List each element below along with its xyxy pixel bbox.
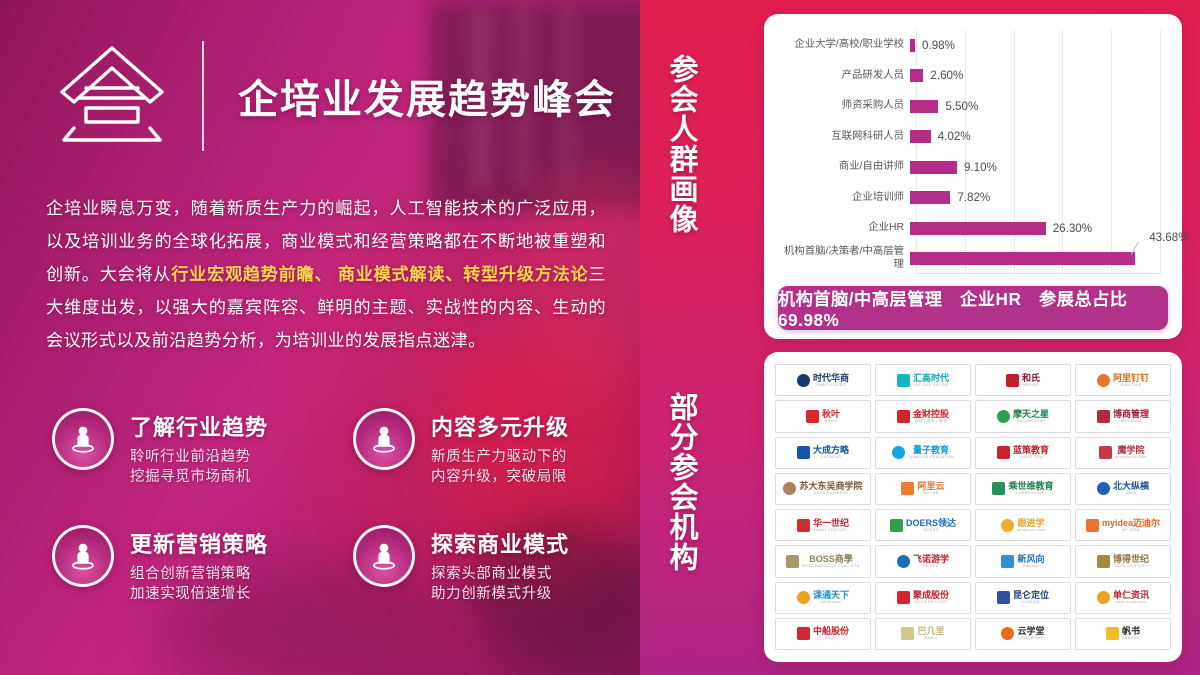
bar-value-label: 0.98% xyxy=(922,39,955,52)
partner-logo-cell[interactable]: BOSS商學BOSS BUSINESS EDU-TECH xyxy=(775,545,871,577)
bar-category-label: 互联网科研人员 xyxy=(778,131,910,143)
feature-title: 了解行业趋势 xyxy=(130,410,268,442)
partner-logo: 量子教育QUANTUM EDUCATION xyxy=(892,445,955,460)
partner-logo: 博得世纪BODE CENTURY xyxy=(1097,554,1149,569)
partner-logo-text: 单仁资讯www.srzzjt.com xyxy=(1113,590,1149,605)
partner-logo-text: 飞诺游学FEINUO xyxy=(913,554,949,569)
partner-logo-subtitle: DINGTALK xyxy=(1121,383,1142,388)
partner-logo-mark-icon xyxy=(897,374,910,387)
partner-logo-text: DOERS领达DOERS xyxy=(906,518,956,533)
partner-logo-subtitle: LANCE EDU xyxy=(1019,455,1043,460)
person-podium-glyph xyxy=(370,541,398,571)
bar xyxy=(910,222,1046,235)
partner-logo-cell[interactable]: 课通天下keton.com xyxy=(775,582,871,614)
partner-logo-mark-icon xyxy=(897,410,910,423)
feature-title: 内容多元升级 xyxy=(431,410,569,442)
left-panel: 企培业发展趋势峰会 企培业瞬息万变，随着新质生产力的崛起，人工智能技术的广泛应用… xyxy=(0,0,640,675)
partner-logo: 汇高时代HUI GAO SHI DAI xyxy=(897,373,949,388)
partner-logo-text: 阿里钉钉DINGTALK xyxy=(1113,373,1149,388)
partner-logo-name: 巴几里 xyxy=(917,626,944,636)
partner-logo-cell[interactable]: 新风向Nowano xyxy=(975,545,1071,577)
partner-logo-mark-icon xyxy=(806,410,819,423)
section-label-people-text: 参会人群画像 xyxy=(662,54,699,234)
partner-logo: 飞诺游学FEINUO xyxy=(897,554,949,569)
partner-logo-text: 跟进学genjinxue.com xyxy=(1017,518,1045,533)
partner-logo: 蓝策教育LANCE EDU xyxy=(997,445,1049,460)
partner-logo-cell[interactable]: 秋叶QIUYE xyxy=(775,400,871,432)
bar-value-label: 43.68% xyxy=(1149,231,1188,244)
partner-logo-subtitle: DACHENG xyxy=(821,455,842,460)
partner-logos-card: 时代华商TIMES KINGBIZ汇高时代HUI GAO SHI DAI和氏HE… xyxy=(764,352,1182,662)
bar-category-label: 师资采购人员 xyxy=(778,100,910,112)
partner-logo-cell[interactable]: 巴几里BAJILI xyxy=(875,618,971,650)
partner-logo-name: 帆书 xyxy=(1122,626,1140,636)
partner-logo: BOSS商學BOSS BUSINESS EDU-TECH xyxy=(786,554,860,569)
partner-logo-name: 新风向 xyxy=(1017,554,1044,564)
right-panel: 参会人群画像 部分参会机构 企业大学/高校/职业学校 0.98% xyxy=(640,0,1200,675)
partner-logo-cell[interactable]: 阿里钉钉DINGTALK xyxy=(1075,364,1171,396)
partner-logo-text: 华一世纪HUAYI CENTURY xyxy=(813,518,849,533)
partner-logo-mark-icon xyxy=(1001,627,1014,640)
bar-value-label: 9.10% xyxy=(964,161,997,174)
partner-logo-subtitle: CHENGSHIWEI xyxy=(1016,491,1046,496)
partner-logo-mark-icon xyxy=(797,374,810,387)
partner-logo-name: 阿里云 xyxy=(917,481,944,491)
partner-logo-name: 苏大东吴商学院 xyxy=(799,481,862,491)
partner-logo-subtitle: Nowano xyxy=(1023,564,1039,569)
bar-value-label: 5.50% xyxy=(945,100,978,113)
chart-bar-row: 企业大学/高校/职业学校 0.98% xyxy=(778,30,1168,61)
partner-logo-mark-icon xyxy=(1106,627,1119,640)
partner-logo-text: 乘世维教育CHENGSHIWEI xyxy=(1008,481,1053,496)
partner-logo-subtitle: aipku xyxy=(1126,491,1137,496)
partner-logo-name: 摩天之星 xyxy=(1013,409,1049,419)
partner-logo-name: 量子教育 xyxy=(913,445,949,455)
partner-logo-mark-icon xyxy=(783,482,796,495)
partner-logo: 金财控股金财 | 财税 | 服务 xyxy=(897,409,949,424)
partner-logo-text: 阿里云ALIYUN xyxy=(917,481,944,496)
partner-logo-subtitle: keton.com xyxy=(821,600,841,605)
partner-logo-cell[interactable]: 北大纵横aipku xyxy=(1075,473,1171,505)
partner-logo-name: 跟进学 xyxy=(1017,518,1044,528)
partner-logo-cell[interactable]: 昆仑定位KUNLUN xyxy=(975,582,1071,614)
person-podium-icon xyxy=(353,525,415,587)
header-lockup: 企培业发展趋势峰会 xyxy=(50,28,616,164)
chart-bar-row: 互联网科研人员 4.02% xyxy=(778,122,1168,153)
partner-logo: myidea迈迪尔MY IDEA xyxy=(1086,518,1160,533)
partner-logo-subtitle: FANSHU xyxy=(1123,636,1140,641)
bar-chart: 企业大学/高校/职业学校 0.98% 产品研发人员 2.60% 师资采购人员 5… xyxy=(778,30,1168,274)
partner-logo-subtitle: 金财 | 财税 | 服务 xyxy=(915,419,947,424)
partner-logo-mark-icon xyxy=(892,446,905,459)
bar-value-label: 7.82% xyxy=(957,191,990,204)
partner-logo-text: 量子教育QUANTUM EDUCATION xyxy=(908,445,955,460)
person-podium-icon xyxy=(353,408,415,470)
partner-logo-name: 华一世纪 xyxy=(813,518,849,528)
partner-logo-name: 聚成股份 xyxy=(913,590,949,600)
partner-logo-subtitle: www.srzzjt.com xyxy=(1116,600,1146,605)
partner-logo-cell[interactable]: 金财控股金财 | 财税 | 服务 xyxy=(875,400,971,432)
partner-logo: 摩天之星MOTIAN STAR xyxy=(997,409,1049,424)
bar-category-label: 企业培训师 xyxy=(778,192,910,204)
partner-logo-name: 乘世维教育 xyxy=(1008,481,1053,491)
partner-logo-text: 云学堂YUNXUETANG xyxy=(1017,626,1046,641)
partner-logo-subtitle: KUNLUN xyxy=(1022,600,1039,605)
partner-logo: 北大纵横aipku xyxy=(1097,481,1149,496)
partner-logo-name: 蓝策教育 xyxy=(1013,445,1049,455)
partner-logo: 阿里钉钉DINGTALK xyxy=(1097,373,1149,388)
bar-category-label: 商业/自由讲师 xyxy=(778,161,910,173)
partner-logo: 课通天下keton.com xyxy=(797,590,849,605)
feature-title: 更新营销策略 xyxy=(130,527,268,559)
partner-logo-subtitle: YUNXUETANG xyxy=(1017,636,1046,641)
partner-logo-name: 博得世纪 xyxy=(1113,554,1149,564)
partner-logo-cell[interactable]: 和氏HEYING xyxy=(975,364,1071,396)
section-label-orgs-text: 部分参会机构 xyxy=(662,392,699,572)
partner-logo-subtitle: BOSS BUSINESS EDU-TECH xyxy=(802,564,860,569)
partner-logo: 时代华商TIMES KINGBIZ xyxy=(797,373,849,388)
partner-logo-name: 博商管理 xyxy=(1113,409,1149,419)
partner-logo-subtitle: BODE CENTURY xyxy=(1114,564,1147,569)
partner-logo-subtitle: SUDA BUSINESS xyxy=(814,491,848,496)
partner-logo-text: BOSS商學BOSS BUSINESS EDU-TECH xyxy=(802,554,860,569)
partner-logo-subtitle: MY IDEA xyxy=(1122,528,1140,533)
partner-logo-name: myidea迈迪尔 xyxy=(1102,518,1160,528)
bar-value-label: 2.60% xyxy=(930,69,963,82)
partner-logo-mark-icon xyxy=(1097,374,1110,387)
partner-logo-name: DOERS领达 xyxy=(906,518,956,528)
partner-logo-cell[interactable]: DOERS领达DOERS xyxy=(875,509,971,541)
partner-logo-name: 和氏 xyxy=(1022,373,1040,383)
person-podium-glyph xyxy=(69,541,97,571)
header-divider xyxy=(202,41,204,151)
partner-logo-text: 蓝策教育LANCE EDU xyxy=(1013,445,1049,460)
feature-line2: 挖掘寻觅市场商机 xyxy=(130,467,268,487)
partner-logo-cell[interactable]: 中船股份CSSC xyxy=(775,618,871,650)
partner-logo-subtitle: CSSC xyxy=(825,636,837,641)
intro-highlight: 行业宏观趋势前瞻、 商业模式解读、转型升级方法论 xyxy=(171,264,588,284)
partner-logo: 单仁资讯www.srzzjt.com xyxy=(1097,590,1149,605)
chart-axis-baseline xyxy=(916,273,1160,274)
partner-logo-name: 时代华商 xyxy=(813,373,849,383)
partner-logo-mark-icon xyxy=(997,591,1010,604)
partner-logo-text: 大成方略DACHENG xyxy=(813,445,849,460)
partner-logo-mark-icon xyxy=(901,627,914,640)
bar-category-label: 产品研发人员 xyxy=(778,70,910,82)
feature-line2: 内容升级，突破局限 xyxy=(431,467,569,487)
partner-logo-text: myidea迈迪尔MY IDEA xyxy=(1102,518,1160,533)
partner-logo-mark-icon xyxy=(897,591,910,604)
partner-logo-text: 昆仑定位KUNLUN xyxy=(1013,590,1049,605)
partner-logo-cell[interactable]: 苏大东吴商学院SUDA BUSINESS xyxy=(775,473,871,505)
partner-logo-cell[interactable]: 魔学院moxueyuan.com xyxy=(1075,437,1171,469)
poster-root: 企培业发展趋势峰会 企培业瞬息万变，随着新质生产力的崛起，人工智能技术的广泛应用… xyxy=(0,0,1200,675)
bar xyxy=(910,69,923,82)
partner-logo-mark-icon xyxy=(1086,519,1099,532)
section-label-orgs: 部分参会机构 xyxy=(662,392,718,572)
feature-line2: 助力创新模式升级 xyxy=(431,584,569,604)
feature-line1: 组合创新营销策略 xyxy=(130,564,268,584)
partner-logo-subtitle: BOSHANG xyxy=(1121,419,1142,424)
partner-logo-text: 苏大东吴商学院SUDA BUSINESS xyxy=(799,481,862,496)
partner-logo-mark-icon xyxy=(797,446,810,459)
partner-logo-mark-icon xyxy=(797,627,810,640)
summary-banner: 机构首脑/中高层管理 企业HR 参展总占比69.98% xyxy=(778,286,1168,330)
partner-logo: 跟进学genjinxue.com xyxy=(1001,518,1045,533)
partner-logo-name: 北大纵横 xyxy=(1113,481,1149,491)
partner-logo-subtitle: moxueyuan.com xyxy=(1115,455,1147,460)
partner-logo-subtitle: HUAYI CENTURY xyxy=(814,528,848,533)
page-title: 企培业发展趋势峰会 xyxy=(238,67,616,125)
partner-logo-mark-icon xyxy=(1097,555,1110,568)
partner-logo-name: 魔学院 xyxy=(1117,445,1144,455)
partner-logo: 新风向Nowano xyxy=(1001,554,1044,569)
partner-logo-subtitle: QIUYE xyxy=(824,419,837,424)
partner-logo-subtitle: JUCHENG CORP. xyxy=(914,600,949,605)
partner-logo-text: 聚成股份JUCHENG CORP. xyxy=(913,590,949,605)
partner-logo-mark-icon xyxy=(1001,555,1014,568)
partner-logo-text: 和氏HEYING xyxy=(1022,373,1040,388)
partner-logo-text: 帆书FANSHU xyxy=(1122,626,1140,641)
partner-logo-mark-icon xyxy=(1097,482,1110,495)
partner-logo-name: BOSS商學 xyxy=(809,554,853,564)
partner-logo-name: 中船股份 xyxy=(813,626,849,636)
partner-logo: 帆书FANSHU xyxy=(1106,626,1140,641)
bar xyxy=(910,130,931,143)
partner-logo: 阿里云ALIYUN xyxy=(901,481,944,496)
partner-logo-name: 汇高时代 xyxy=(913,373,949,383)
partner-logo-mark-icon xyxy=(1006,374,1019,387)
partner-logo-text: 中船股份CSSC xyxy=(813,626,849,641)
partner-logo-grid: 时代华商TIMES KINGBIZ汇高时代HUI GAO SHI DAI和氏HE… xyxy=(775,364,1171,650)
partner-logo-text: 魔学院moxueyuan.com xyxy=(1115,445,1147,460)
partner-logo-mark-icon xyxy=(890,519,903,532)
attendee-profile-chart-card: 企业大学/高校/职业学校 0.98% 产品研发人员 2.60% 师资采购人员 5… xyxy=(764,14,1182,339)
partner-logo: 苏大东吴商学院SUDA BUSINESS xyxy=(783,481,862,496)
chart-bar-row: 机构首脑/决策者/中高层管理 43.68% xyxy=(778,244,1168,275)
person-podium-glyph xyxy=(69,424,97,454)
partner-logo-name: 阿里钉钉 xyxy=(1113,373,1149,383)
partner-logo-cell[interactable]: 乘世维教育CHENGSHIWEI xyxy=(975,473,1071,505)
partner-logo: 魔学院moxueyuan.com xyxy=(1099,445,1147,460)
partner-logo-subtitle: BAJILI xyxy=(924,636,937,641)
partner-logo-name: 课通天下 xyxy=(813,590,849,600)
chart-bar-row: 企业培训师 7.82% xyxy=(778,183,1168,214)
bar xyxy=(910,252,1135,265)
partner-logo-name: 秋叶 xyxy=(822,409,840,419)
partner-logo: 大成方略DACHENG xyxy=(797,445,849,460)
partner-logo-mark-icon xyxy=(992,482,1005,495)
partner-logo-cell[interactable]: 飞诺游学FEINUO xyxy=(875,545,971,577)
partner-logo: 华一世纪HUAYI CENTURY xyxy=(797,518,849,533)
partner-logo-cell[interactable]: 蓝策教育LANCE EDU xyxy=(975,437,1071,469)
partner-logo-subtitle: QUANTUM EDUCATION xyxy=(908,455,955,460)
partner-logo-subtitle: TIMES KINGBIZ xyxy=(815,383,847,388)
feature-card-0: 了解行业趋势 聆听行业前沿趋势 挖掘寻觅市场商机 xyxy=(52,408,331,487)
feature-line2: 加速实现倍速增长 xyxy=(130,584,268,604)
partner-logo-cell[interactable]: 时代华商TIMES KINGBIZ xyxy=(775,364,871,396)
partner-logo-cell[interactable]: 华一世纪HUAYI CENTURY xyxy=(775,509,871,541)
partner-logo-text: 课通天下keton.com xyxy=(813,590,849,605)
bar xyxy=(910,191,950,204)
partner-logo-subtitle: HUI GAO SHI DAI xyxy=(913,383,948,388)
person-podium-icon xyxy=(52,408,114,470)
bar-value-label: 26.30% xyxy=(1053,222,1092,235)
partner-logo-name: 单仁资讯 xyxy=(1113,590,1149,600)
person-podium-glyph xyxy=(370,424,398,454)
partner-logo-text: 金财控股金财 | 财税 | 服务 xyxy=(913,409,949,424)
partner-logo-cell[interactable]: 博得世纪BODE CENTURY xyxy=(1075,545,1171,577)
partner-logo-text: 新风向Nowano xyxy=(1017,554,1044,569)
partner-logo-subtitle: DOERS xyxy=(924,528,939,533)
partner-logo-cell[interactable]: 单仁资讯www.srzzjt.com xyxy=(1075,582,1171,614)
partner-logo-name: 云学堂 xyxy=(1017,626,1044,636)
bar-category-label: 企业HR xyxy=(778,222,910,234)
partner-logo-mark-icon xyxy=(897,555,910,568)
partner-logo: 巴几里BAJILI xyxy=(901,626,944,641)
partner-logo: DOERS领达DOERS xyxy=(890,518,956,533)
chart-bar-row: 企业HR 26.30% xyxy=(778,213,1168,244)
chart-bar-row: 商业/自由讲师 9.10% xyxy=(778,152,1168,183)
partner-logo-name: 昆仑定位 xyxy=(1013,590,1049,600)
partner-logo-cell[interactable]: 聚成股份JUCHENG CORP. xyxy=(875,582,971,614)
intro-paragraph: 企培业瞬息万变，随着新质生产力的崛起，人工智能技术的广泛应用，以及培训业务的全球… xyxy=(46,192,606,357)
partner-logo-mark-icon xyxy=(797,591,810,604)
partner-logo-subtitle: MOTIAN STAR xyxy=(1017,419,1046,424)
partner-logo-cell[interactable]: 大成方略DACHENG xyxy=(775,437,871,469)
partner-logo-text: 博商管理BOSHANG xyxy=(1113,409,1149,424)
partner-logo-mark-icon xyxy=(1001,519,1014,532)
person-podium-icon xyxy=(52,525,114,587)
feature-card-1: 内容多元升级 新质生产力驱动下的 内容升级，突破局限 xyxy=(353,408,632,487)
partner-logo-mark-icon xyxy=(1097,410,1110,423)
section-label-people: 参会人群画像 xyxy=(662,54,718,234)
chart-bar-row: 师资采购人员 5.50% xyxy=(778,91,1168,122)
hui-character-logo-icon xyxy=(50,40,174,152)
partner-logo-mark-icon xyxy=(997,410,1010,423)
partner-logo-mark-icon xyxy=(901,482,914,495)
bar-category-label: 机构首脑/决策者/中高层管理 xyxy=(778,246,910,271)
partner-logo-mark-icon xyxy=(1099,446,1112,459)
partner-logo: 昆仑定位KUNLUN xyxy=(997,590,1049,605)
partner-logo-subtitle: HEYING xyxy=(1023,383,1039,388)
partner-logo-mark-icon xyxy=(997,446,1010,459)
bar-category-label: 企业大学/高校/职业学校 xyxy=(778,39,910,51)
partner-logo: 乘世维教育CHENGSHIWEI xyxy=(992,481,1053,496)
partner-logo-cell[interactable]: 跟进学genjinxue.com xyxy=(975,509,1071,541)
partner-logo: 聚成股份JUCHENG CORP. xyxy=(897,590,949,605)
partner-logo-text: 博得世纪BODE CENTURY xyxy=(1113,554,1149,569)
partner-logo-name: 大成方略 xyxy=(813,445,849,455)
partner-logo-cell[interactable]: 量子教育QUANTUM EDUCATION xyxy=(875,437,971,469)
partner-logo-subtitle: ALIYUN xyxy=(923,491,938,496)
bar xyxy=(910,161,957,174)
feature-line1: 新质生产力驱动下的 xyxy=(431,447,569,467)
partner-logo-name: 飞诺游学 xyxy=(913,554,949,564)
partner-logo-cell[interactable]: 汇高时代HUI GAO SHI DAI xyxy=(875,364,971,396)
partner-logo-text: 摩天之星MOTIAN STAR xyxy=(1013,409,1049,424)
partner-logo-cell[interactable]: 博商管理BOSHANG xyxy=(1075,400,1171,432)
partner-logo-mark-icon xyxy=(1097,591,1110,604)
partner-logo-text: 汇高时代HUI GAO SHI DAI xyxy=(913,373,949,388)
feature-line1: 聆听行业前沿趋势 xyxy=(130,447,268,467)
partner-logo: 秋叶QIUYE xyxy=(806,409,840,424)
partner-logo-cell[interactable]: 帆书FANSHU xyxy=(1075,618,1171,650)
feature-line1: 探索头部商业模式 xyxy=(431,564,569,584)
partner-logo-text: 巴几里BAJILI xyxy=(917,626,944,641)
partner-logo: 中船股份CSSC xyxy=(797,626,849,641)
feature-title: 探索商业模式 xyxy=(431,527,569,559)
partner-logo-cell[interactable]: 云学堂YUNXUETANG xyxy=(975,618,1071,650)
partner-logo-mark-icon xyxy=(786,555,799,568)
feature-card-3: 探索商业模式 探索头部商业模式 助力创新模式升级 xyxy=(353,525,632,604)
bar xyxy=(910,39,915,52)
bar-value-label: 4.02% xyxy=(938,130,971,143)
partner-logo-text: 北大纵横aipku xyxy=(1113,481,1149,496)
partner-logo-cell[interactable]: myidea迈迪尔MY IDEA xyxy=(1075,509,1171,541)
partner-logo-text: 时代华商TIMES KINGBIZ xyxy=(813,373,849,388)
bar xyxy=(910,100,938,113)
partner-logo: 云学堂YUNXUETANG xyxy=(1001,626,1046,641)
chart-bar-row: 产品研发人员 2.60% xyxy=(778,61,1168,92)
feature-grid: 了解行业趋势 聆听行业前沿趋势 挖掘寻觅市场商机 内容多元升级 新质生产力驱动下… xyxy=(52,408,632,604)
partner-logo-cell[interactable]: 阿里云ALIYUN xyxy=(875,473,971,505)
partner-logo: 博商管理BOSHANG xyxy=(1097,409,1149,424)
partner-logo-text: 秋叶QIUYE xyxy=(822,409,840,424)
partner-logo-mark-icon xyxy=(797,519,810,532)
partner-logo-cell[interactable]: 摩天之星MOTIAN STAR xyxy=(975,400,1071,432)
partner-logo: 和氏HEYING xyxy=(1006,373,1040,388)
feature-card-2: 更新营销策略 组合创新营销策略 加速实现倍速增长 xyxy=(52,525,331,604)
partner-logo-subtitle: FEINUO xyxy=(923,564,939,569)
partner-logo-name: 金财控股 xyxy=(913,409,949,419)
partner-logo-subtitle: genjinxue.com xyxy=(1017,528,1045,533)
